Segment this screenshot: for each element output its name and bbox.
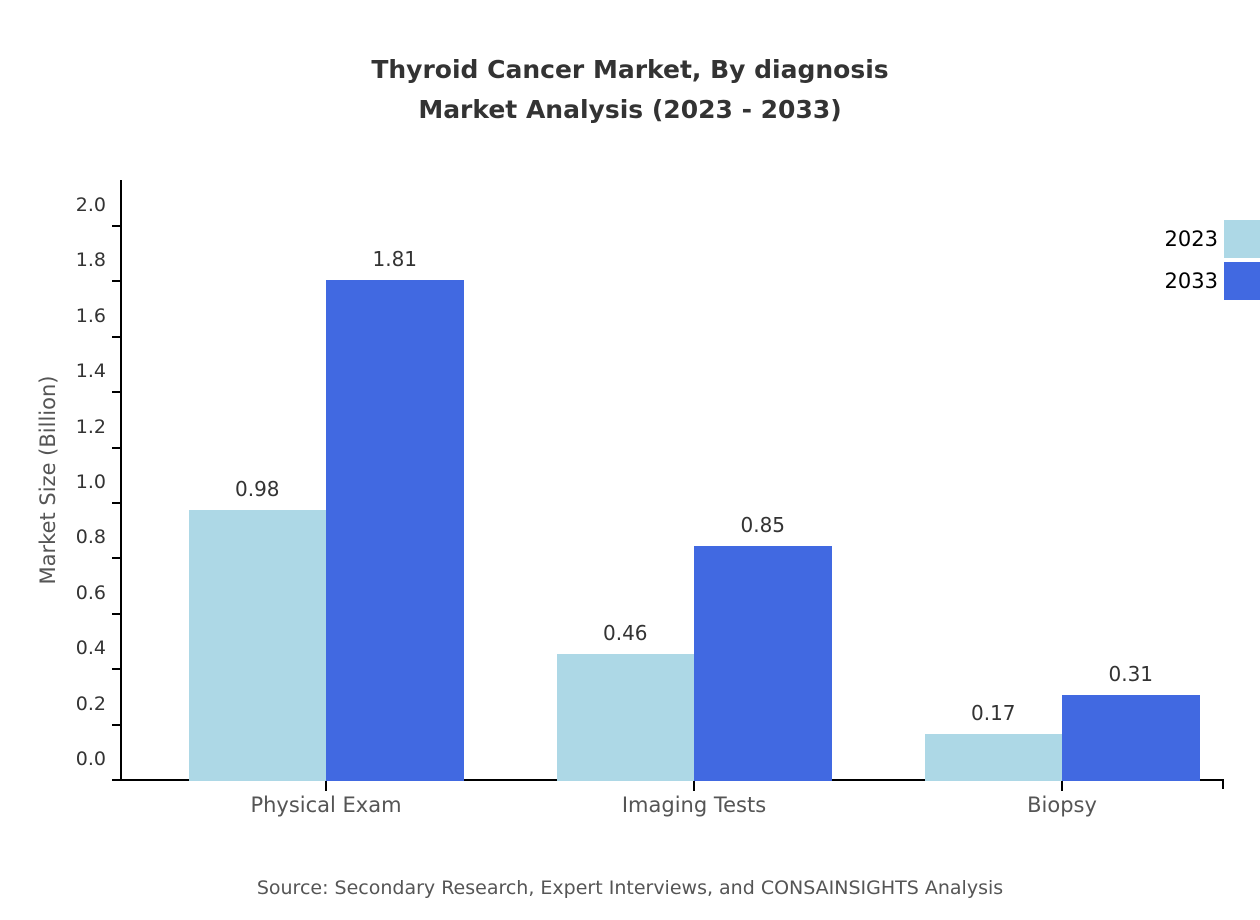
y-tick-label: 1.8 (76, 249, 106, 271)
chart-title: Thyroid Cancer Market, By diagnosis Mark… (0, 50, 1260, 130)
legend-item-2033[interactable]: 2033 (1130, 262, 1260, 300)
y-axis-label: Market Size (Billion) (33, 200, 63, 760)
x-tick-label: Physical Exam (250, 793, 401, 817)
y-tick-mark (112, 336, 120, 338)
y-tick-label: 1.0 (76, 471, 106, 493)
y-tick-label: 1.4 (76, 360, 106, 382)
bar-value-label: 0.17 (971, 701, 1016, 725)
y-tick-mark (112, 779, 120, 781)
y-tick-label: 0.8 (76, 526, 106, 548)
y-axis-line (120, 180, 122, 781)
y-tick-mark (112, 613, 120, 615)
x-tick-label: Imaging Tests (622, 793, 766, 817)
legend-item-2023[interactable]: 2023 (1130, 220, 1260, 258)
bar-value-label: 1.81 (372, 247, 417, 271)
y-tick-mark (112, 557, 120, 559)
bar-value-label: 0.31 (1108, 662, 1153, 686)
y-tick-label: 1.2 (76, 416, 106, 438)
bar-2023-imaging-tests[interactable] (557, 654, 695, 781)
y-tick-label: 1.6 (76, 305, 106, 327)
chart-figure: Thyroid Cancer Market, By diagnosis Mark… (0, 0, 1260, 920)
y-tick-mark (112, 225, 120, 227)
x-tick-mark (1061, 781, 1063, 791)
y-tick-label: 0.6 (76, 582, 106, 604)
legend-label-2033: 2033 (1130, 262, 1218, 300)
chart-title-line-2: Market Analysis (2023 - 2033) (0, 90, 1260, 130)
x-tick-mark (693, 781, 695, 791)
y-tick-label: 0.4 (76, 637, 106, 659)
legend-label-2023: 2023 (1130, 220, 1218, 258)
y-tick-label: 0.0 (76, 748, 106, 770)
bar-2023-physical-exam[interactable] (189, 510, 327, 781)
y-tick-mark (112, 668, 120, 670)
legend: 2023 2033 (1130, 212, 1260, 308)
y-tick-mark (112, 502, 120, 504)
bar-2033-biopsy[interactable] (1062, 695, 1200, 781)
legend-swatch-2033 (1224, 262, 1260, 300)
x-tick-label: Biopsy (1027, 793, 1097, 817)
bar-value-label: 0.85 (740, 513, 785, 537)
legend-swatch-2023 (1224, 220, 1260, 258)
y-tick-label: 0.2 (76, 693, 106, 715)
bar-2023-biopsy[interactable] (925, 734, 1063, 781)
bar-value-label: 0.46 (603, 621, 648, 645)
bar-value-label: 0.98 (235, 477, 280, 501)
y-tick-mark (112, 280, 120, 282)
x-axis-end-tick (1222, 779, 1224, 789)
y-tick-mark (112, 391, 120, 393)
y-tick-label: 2.0 (76, 194, 106, 216)
chart-title-line-1: Thyroid Cancer Market, By diagnosis (371, 55, 888, 84)
source-note: Source: Secondary Research, Expert Inter… (0, 877, 1260, 899)
y-tick-mark (112, 447, 120, 449)
bar-2033-physical-exam[interactable] (326, 280, 464, 781)
plot-area: 0.00.20.40.60.81.01.21.41.61.82.0 0.981.… (120, 180, 1224, 781)
y-tick-mark (112, 724, 120, 726)
bar-2033-imaging-tests[interactable] (694, 546, 832, 781)
x-tick-mark (325, 781, 327, 791)
